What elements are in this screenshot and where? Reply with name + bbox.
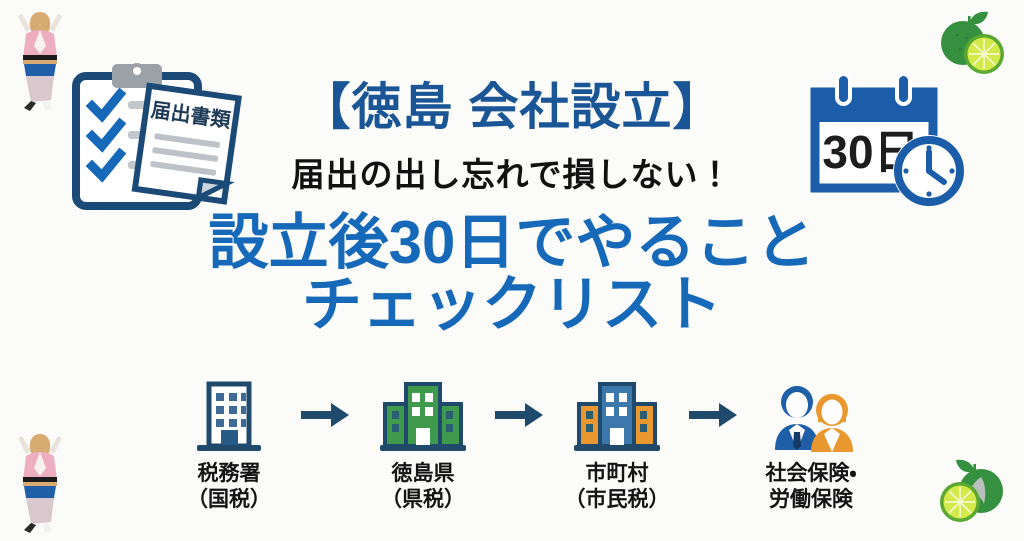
page-title-line2: チェックリスト	[0, 274, 1024, 336]
flow-step-label-line1: 社会保険・	[765, 462, 856, 485]
flow-step-social-labor-insurance: 社会保険・ 労働保険	[752, 376, 870, 512]
sudachi-citrus-icon	[930, 452, 1014, 541]
awa-odori-dancer-icon	[4, 424, 76, 541]
flow-step-label-line1: 徳島県	[392, 462, 455, 485]
flow-step-label: 市町村 （市民税）	[565, 461, 670, 512]
flow-step-municipality: 市町村 （市民税）	[558, 376, 676, 512]
flow-step-label-line2: （市民税）	[565, 487, 670, 513]
flow-step-label-line2: （県税）	[381, 487, 465, 513]
flow-step-label: 税務署 （国税）	[187, 461, 271, 512]
flow-step-label: 徳島県 （県税）	[381, 461, 465, 512]
flow-step-label-line2: （国税）	[187, 487, 271, 513]
flow-arrow-icon	[686, 376, 742, 454]
flow-step-prefecture: 徳島県 （県税）	[364, 376, 482, 512]
flow-step-label-line1: 税務署	[198, 462, 261, 485]
page-title-line1: 設立後30日でやること	[0, 212, 1024, 274]
building-municipality-icon	[571, 376, 663, 454]
flow-arrow-icon	[492, 376, 548, 454]
bracket-title: 【徳島 会社設立】	[0, 82, 1024, 132]
flow-step-label: 社会保険・ 労働保険	[765, 461, 856, 512]
building-prefecture-icon	[377, 376, 469, 454]
flow-arrow-icon	[298, 376, 354, 454]
sub-title: 届出の出し忘れで損しない！	[0, 158, 1024, 191]
people-insurance-icon	[763, 376, 859, 454]
flow-step-label-line1: 市町村	[586, 462, 649, 485]
building-tax-office-icon	[188, 376, 270, 454]
poster-canvas: 届出書類 30日	[0, 0, 1024, 541]
filing-flow-row: 税務署 （国税）	[170, 376, 870, 536]
flow-step-tax-office: 税務署 （国税）	[170, 376, 288, 512]
flow-step-label-line2: 労働保険	[765, 487, 856, 513]
page-title: 設立後30日でやること チェックリスト	[0, 212, 1024, 336]
